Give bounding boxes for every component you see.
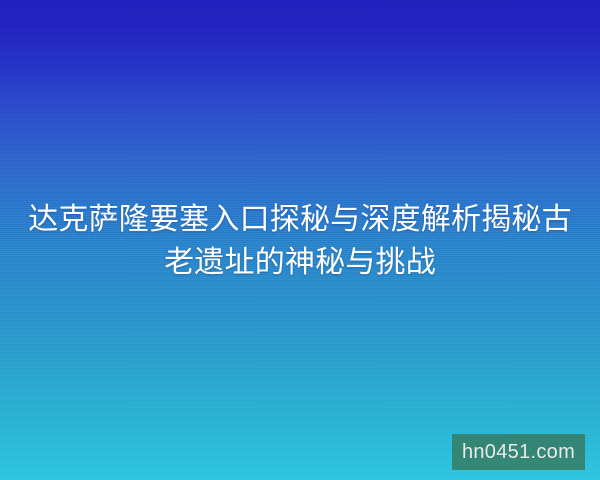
watermark-text: hn0451.com — [462, 442, 575, 462]
page-title: 达克萨隆要塞入口探秘与深度解析揭秘古 老遗址的神秘与挑战 — [0, 198, 600, 284]
title-line-2: 老遗址的神秘与挑战 — [22, 241, 578, 284]
banner-image: 达克萨隆要塞入口探秘与深度解析揭秘古 老遗址的神秘与挑战 hn0451.com — [0, 0, 600, 480]
title-line-1: 达克萨隆要塞入口探秘与深度解析揭秘古 — [22, 198, 578, 241]
watermark-badge: hn0451.com — [452, 434, 585, 470]
